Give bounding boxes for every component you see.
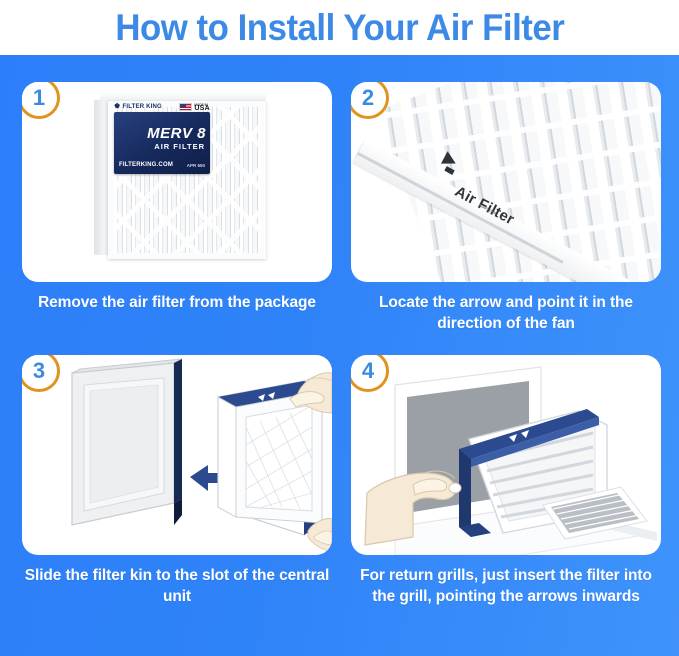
- slide-filter-into-slot-illustration: [22, 355, 332, 555]
- step-card-4: 4 For return grills, just insert the fil…: [351, 355, 661, 607]
- step-card-2: Air Filter AIRFLOW 2 Locate the arrow an…: [351, 82, 661, 334]
- step-caption-3: Slide the filter kin to the slot of the …: [22, 565, 332, 607]
- insert-filter-into-return-grill-illustration: [351, 355, 661, 555]
- step-number-2: 2: [362, 87, 374, 109]
- made-in-usa-badge: MADE IN USA: [179, 103, 210, 111]
- step-caption-4: For return grills, just insert the filte…: [351, 565, 661, 607]
- crown-icon: ♚: [114, 104, 120, 110]
- step-1-image-card: MERV 8 AIR FILTER FILTERKING.COM APR 650…: [22, 82, 332, 282]
- steps-grid: MERV 8 AIR FILTER FILTERKING.COM APR 650…: [0, 55, 679, 656]
- step-number-3: 3: [33, 360, 45, 382]
- usa-text: USA: [194, 107, 210, 111]
- page-title: How to Install Your Air Filter: [115, 8, 564, 48]
- central-unit-housing: [72, 359, 182, 525]
- label-brand-row: ♚ FILTER KING MADE IN USA: [114, 100, 210, 113]
- step-number-4: 4: [362, 360, 374, 382]
- air-filter-text: AIR FILTER: [114, 143, 205, 151]
- step-caption-2: Locate the arrow and point it in the dir…: [351, 292, 661, 334]
- step-4-image-card: 4: [351, 355, 661, 555]
- filter-king-logo: ♚ FILTER KING: [114, 104, 162, 110]
- air-filter-product-photo: MERV 8 AIR FILTER FILTERKING.COM APR 650…: [22, 82, 332, 282]
- product-label: MERV 8 AIR FILTER FILTERKING.COM APR 650: [114, 112, 210, 174]
- infographic-poster: How to Install Your Air Filter MERV 8: [0, 0, 679, 656]
- step-2-image-card: Air Filter AIRFLOW 2: [351, 82, 661, 282]
- step-number-1: 1: [33, 87, 45, 109]
- step-3-image-card: 3: [22, 355, 332, 555]
- step-caption-1: Remove the air filter from the package: [22, 292, 332, 313]
- usa-flag-icon: [179, 103, 192, 111]
- step-card-1: MERV 8 AIR FILTER FILTERKING.COM APR 650…: [22, 82, 332, 313]
- step-card-3: 3 Slide the filter kin to the slot of th…: [22, 355, 332, 607]
- filter-edge-airflow-arrow: Air Filter AIRFLOW: [351, 82, 661, 282]
- header-band: How to Install Your Air Filter: [0, 0, 679, 55]
- apr-rating-text: APR 650: [187, 162, 205, 169]
- brand-name-text: FILTER KING: [122, 104, 161, 110]
- merv-rating-text: MERV 8: [114, 126, 206, 141]
- website-text: FILTERKING.COM: [119, 162, 173, 169]
